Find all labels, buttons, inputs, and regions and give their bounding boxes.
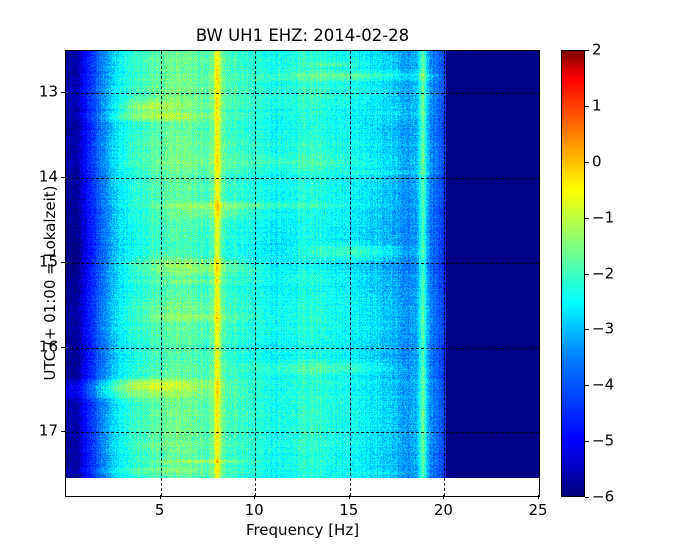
colorbar-tick bbox=[585, 497, 589, 498]
grid-line-vertical bbox=[161, 51, 162, 496]
x-tick-label: 20 bbox=[434, 502, 453, 519]
x-tick bbox=[538, 495, 539, 499]
colorbar-tick bbox=[585, 329, 589, 330]
grid-line-horizontal bbox=[66, 93, 539, 94]
colorbar-tick-label: −2 bbox=[592, 265, 614, 282]
spectrogram-axes[interactable] bbox=[65, 50, 540, 497]
grid-line-horizontal bbox=[66, 348, 539, 349]
grid-line-horizontal bbox=[66, 178, 539, 179]
grid-line-horizontal bbox=[66, 263, 539, 264]
x-tick-label: 25 bbox=[528, 502, 547, 519]
page-title: BW UH1 EHZ: 2014-02-28 bbox=[65, 26, 540, 46]
y-tick bbox=[61, 177, 65, 178]
colorbar-tick bbox=[585, 441, 589, 442]
spectrogram-image bbox=[66, 51, 539, 478]
colorbar-tick bbox=[585, 274, 589, 275]
colorbar-tick-label: 0 bbox=[592, 153, 602, 170]
colorbar-tick bbox=[585, 106, 589, 107]
x-tick-label: 5 bbox=[155, 502, 165, 519]
x-tick-label: 10 bbox=[245, 502, 264, 519]
colorbar-tick-label: −1 bbox=[592, 209, 614, 226]
x-tick-label: 15 bbox=[339, 502, 358, 519]
colorbar-tick bbox=[585, 162, 589, 163]
grid-line-vertical bbox=[255, 51, 256, 496]
colorbar-tick-label: 2 bbox=[592, 42, 602, 59]
y-tick-label: 13 bbox=[39, 84, 58, 101]
colorbar-tick bbox=[585, 385, 589, 386]
colorbar-tick-label: −4 bbox=[592, 377, 614, 394]
colorbar-tick-label: −3 bbox=[592, 321, 614, 338]
colorbar-tick-label: −6 bbox=[592, 489, 614, 506]
y-tick bbox=[61, 431, 65, 432]
colorbar-tick-label: −5 bbox=[592, 433, 614, 450]
colorbar-tick bbox=[585, 218, 589, 219]
y-tick-label: 17 bbox=[39, 423, 58, 440]
y-tick bbox=[61, 262, 65, 263]
colorbar-tick-label: 1 bbox=[592, 97, 602, 114]
blank-data-strip bbox=[66, 478, 539, 496]
spectrogram-pixels bbox=[66, 51, 539, 478]
x-tick bbox=[254, 495, 255, 499]
grid-line-vertical bbox=[350, 51, 351, 496]
colorbar[interactable] bbox=[561, 50, 585, 497]
grid-line-vertical bbox=[444, 51, 445, 496]
colorbar-tick bbox=[585, 50, 589, 51]
y-axis-label: UTC (+ 01:00 = Lokalzeit) bbox=[41, 158, 59, 408]
x-tick bbox=[160, 495, 161, 499]
figure-canvas: BW UH1 EHZ: 2014-02-28 51015202513141516… bbox=[0, 0, 673, 554]
x-tick bbox=[443, 495, 444, 499]
y-tick bbox=[61, 92, 65, 93]
x-tick bbox=[349, 495, 350, 499]
grid-line-horizontal bbox=[66, 432, 539, 433]
x-axis-label: Frequency [Hz] bbox=[65, 521, 540, 539]
y-tick bbox=[61, 347, 65, 348]
